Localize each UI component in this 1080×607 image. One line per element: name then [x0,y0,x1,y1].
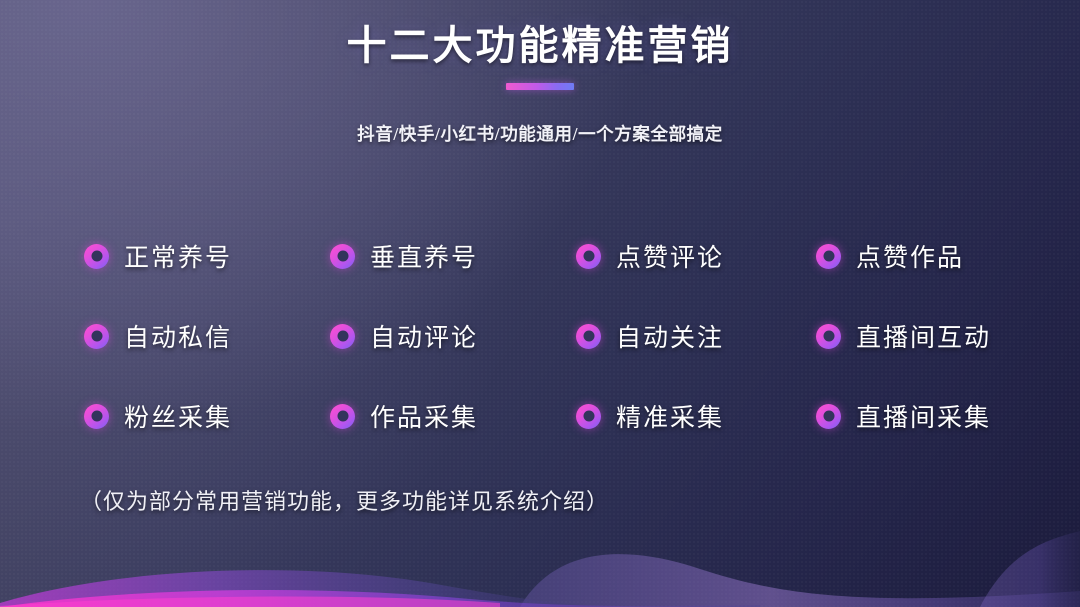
ring-icon [816,244,841,269]
feature-item[interactable]: 直播间采集 [816,398,1009,434]
wave-shape-front [0,590,760,607]
slide-subtitle: 抖音/快手/小红书/功能通用/一个方案全部搞定 [0,121,1080,146]
wave-shape-right [980,531,1080,607]
feature-item[interactable]: 粉丝采集 [84,398,330,434]
wave-highlight [0,597,500,607]
feature-label: 作品采集 [370,398,478,434]
ring-icon [816,324,841,349]
feature-label: 点赞作品 [856,238,964,274]
feature-item[interactable]: 点赞作品 [816,238,1009,274]
feature-item[interactable]: 点赞评论 [576,238,816,274]
feature-label: 直播间互动 [856,318,991,354]
page-title: 十二大功能精准营销 [0,22,1080,69]
ring-icon [84,244,109,269]
ring-icon [330,244,355,269]
feature-label: 垂直养号 [370,238,478,274]
ring-icon [576,324,601,349]
feature-label: 直播间采集 [856,398,991,434]
wave-shape-left [0,570,620,607]
ring-icon [84,324,109,349]
feature-label: 正常养号 [124,238,232,274]
feature-label: 点赞评论 [616,238,724,274]
slide-header: 十二大功能精准营销 抖音/快手/小红书/功能通用/一个方案全部搞定 [0,22,1080,146]
ring-icon [84,404,109,429]
feature-grid: 正常养号 垂直养号 点赞评论 点赞作品 自动私信 自动评论 自动关注 直播间 [84,216,1009,456]
marketing-feature-slide: 十二大功能精准营销 抖音/快手/小红书/功能通用/一个方案全部搞定 正常养号 垂… [0,0,1080,607]
ring-icon [576,244,601,269]
feature-item[interactable]: 垂直养号 [330,238,576,274]
ring-icon [816,404,841,429]
feature-label: 自动评论 [370,318,478,354]
ring-icon [576,404,601,429]
feature-item[interactable]: 正常养号 [84,238,330,274]
feature-label: 粉丝采集 [124,398,232,434]
ring-icon [330,404,355,429]
wave-shape-center [520,554,1080,607]
feature-item[interactable]: 自动关注 [576,318,816,354]
footer-note: （仅为部分常用营销功能，更多功能详见系统介绍） [80,484,609,516]
feature-item[interactable]: 自动评论 [330,318,576,354]
feature-item[interactable]: 精准采集 [576,398,816,434]
feature-label: 精准采集 [616,398,724,434]
feature-item[interactable]: 直播间互动 [816,318,1009,354]
title-underline-bar [506,83,574,90]
feature-label: 自动关注 [616,318,724,354]
feature-item[interactable]: 作品采集 [330,398,576,434]
feature-item[interactable]: 自动私信 [84,318,330,354]
feature-label: 自动私信 [124,318,232,354]
ring-icon [330,324,355,349]
